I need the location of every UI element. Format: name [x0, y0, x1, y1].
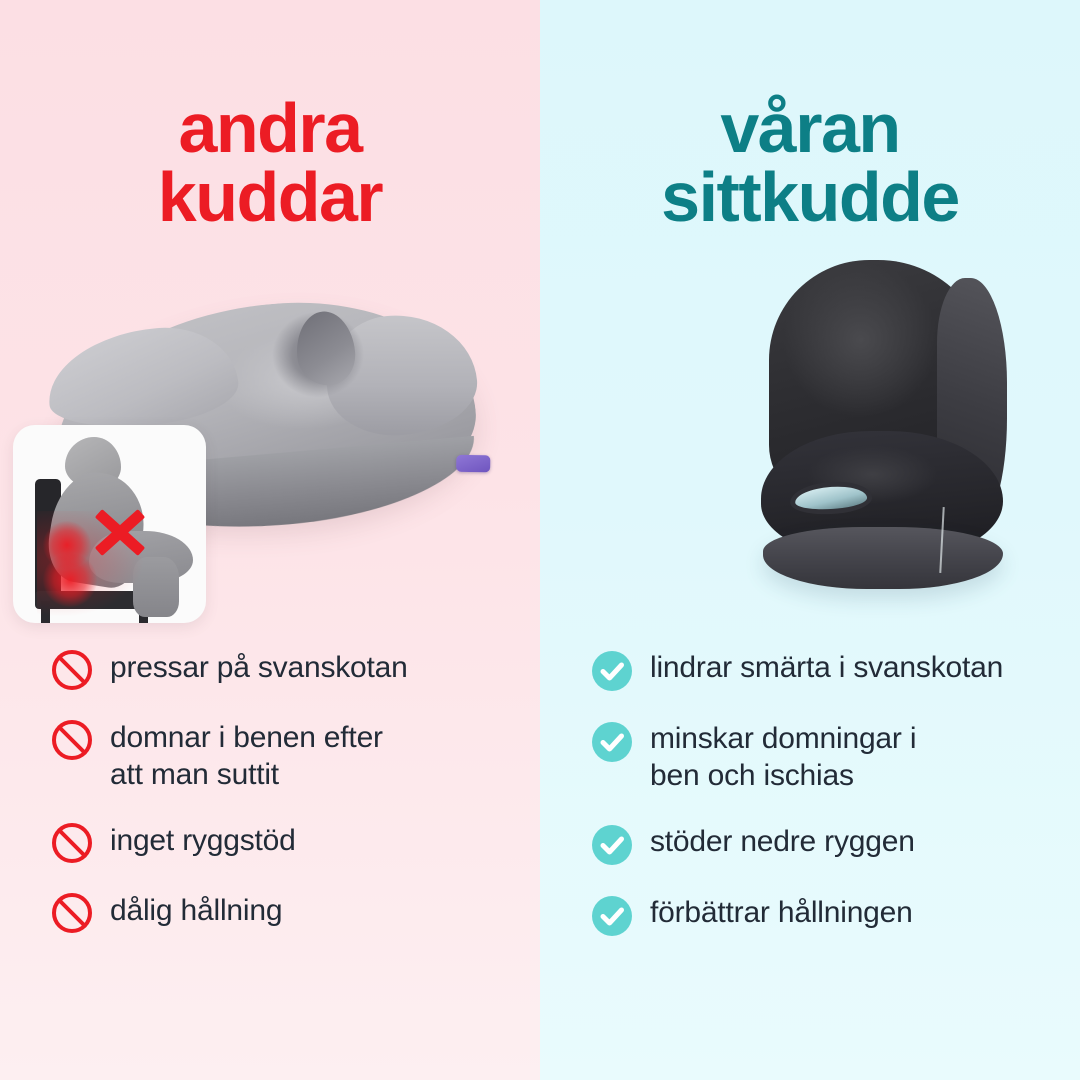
check-icon	[592, 722, 632, 762]
list-item: lindrar smärta i svanskotan	[592, 648, 1066, 691]
prohibition-icon	[52, 823, 92, 863]
right-panel-heading: våran sittkudde	[540, 94, 1080, 231]
check-icon	[592, 896, 632, 936]
panel-other-cushions: andra kuddar	[0, 0, 540, 1080]
list-item: inget ryggstöd	[52, 821, 518, 863]
list-item: pressar på svanskotan	[52, 648, 518, 690]
cushion-purple-tag	[456, 455, 490, 473]
right-product-stage	[540, 250, 1080, 650]
slouched-posture-photo	[13, 425, 206, 623]
list-item-label: stöder nedre ryggen	[650, 822, 915, 860]
list-item-label: pressar på svanskotan	[110, 648, 408, 686]
list-item: domnar i benen efter att man suttit	[52, 718, 518, 793]
list-item-label: minskar domningar i ben och ischias	[650, 719, 916, 794]
list-item-label: förbättrar hållningen	[650, 893, 913, 931]
comparison-poster: andra kuddar	[0, 0, 1080, 1080]
list-item-label: inget ryggstöd	[110, 821, 296, 859]
right-feature-list: lindrar smärta i svanskotan minskar domn…	[540, 648, 1080, 964]
list-item: dålig hållning	[52, 891, 518, 933]
black-ergonomic-cushion-image	[755, 260, 1015, 595]
list-item-label: lindrar smärta i svanskotan	[650, 648, 1003, 686]
list-item: minskar domningar i ben och ischias	[592, 719, 1066, 794]
list-item-label: dålig hållning	[110, 891, 282, 929]
cushion-base	[763, 527, 1003, 589]
check-icon	[592, 825, 632, 865]
left-panel-heading: andra kuddar	[0, 94, 540, 231]
prohibition-icon	[52, 720, 92, 760]
list-item: förbättrar hållningen	[592, 893, 1066, 936]
prohibition-icon	[52, 893, 92, 933]
left-feature-list: pressar på svanskotan domnar i benen eft…	[0, 648, 540, 961]
panel-our-cushion: våran sittkudde	[540, 0, 1080, 1080]
check-icon	[592, 651, 632, 691]
pain-spot	[43, 553, 97, 607]
list-item: stöder nedre ryggen	[592, 822, 1066, 865]
list-item-label: domnar i benen efter att man suttit	[110, 718, 383, 793]
prohibition-icon	[52, 650, 92, 690]
red-x-icon	[91, 503, 149, 561]
